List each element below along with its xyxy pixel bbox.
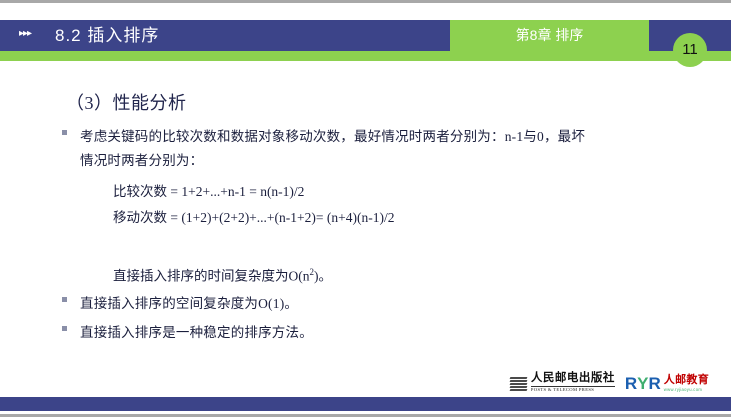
time-complexity-statement: 直接插入排序的时间复杂度为O(n2)。 — [113, 261, 332, 288]
list-item: 直接插入排序是一种稳定的排序方法。 — [62, 321, 722, 345]
monogram-letter-r-right: R — [649, 375, 661, 392]
slide-header: ▸▸▸ 8.2 插入排序 第8章 排序 11 — [0, 20, 731, 61]
presentation-slide: ▸▸▸ 8.2 插入排序 第8章 排序 11 （3）性能分析 考虑关键码的比较次… — [0, 0, 731, 417]
ryjiaoyu-education-logo: R Y R 人邮教育 www.ryjiaoyu.com — [625, 375, 709, 392]
formula-move-count: 移动次数 = (1+2)+(2+2)+...+(n-1+2)= (n+4)(n-… — [113, 207, 394, 229]
page-title: （3）性能分析 — [66, 89, 187, 115]
ryr-monogram-icon: R Y R — [625, 375, 661, 392]
press-logo-text: 人民邮电出版社 POSTS & TELECOM PRESS — [531, 373, 615, 393]
section-title-header: 8.2 插入排序 — [55, 24, 159, 48]
chapter-label: 第8章 排序 — [450, 20, 649, 51]
list-item-label: 直接插入排序是一种稳定的排序方法。 — [80, 321, 722, 345]
list-item: 直接插入排序的空间复杂度为O(1)。 — [62, 292, 722, 316]
square-bullet-icon — [62, 321, 80, 331]
edu-name-cn: 人邮教育 — [664, 375, 709, 386]
list-item-label: 考虑关键码的比较次数和数据对象移动次数，最好情况时两者分别为：n-1与0，最坏 — [80, 125, 722, 149]
list-item-continuation: 情况时两者分别为： — [80, 149, 203, 173]
monogram-letter-y-middle: Y — [637, 375, 648, 392]
square-bullet-icon — [62, 292, 80, 302]
list-item: 考虑关键码的比较次数和数据对象移动次数，最好情况时两者分别为：n-1与0，最坏 — [62, 125, 722, 149]
book-pages-icon — [510, 375, 527, 392]
footer-logos: 人民邮电出版社 POSTS & TELECOM PRESS R Y R 人邮教育… — [510, 373, 709, 393]
slide-footer: 人民邮电出版社 POSTS & TELECOM PRESS R Y R 人邮教育… — [0, 351, 731, 411]
posts-telecom-press-logo: 人民邮电出版社 POSTS & TELECOM PRESS — [510, 373, 615, 393]
time-complexity-prefix: 直接插入排序的时间复杂度为O(n — [113, 269, 310, 284]
square-bullet-icon — [62, 125, 80, 135]
footer-blue-bar — [0, 397, 731, 411]
edu-logo-text: 人邮教育 www.ryjiaoyu.com — [664, 375, 709, 392]
triple-right-arrow-icon: ▸▸▸ — [19, 29, 31, 39]
page-number-badge: 11 — [673, 33, 707, 67]
edu-website-url: www.ryjiaoyu.com — [664, 388, 709, 392]
monogram-letter-r-left: R — [625, 375, 637, 392]
time-complexity-suffix: )。 — [314, 269, 332, 284]
press-name-cn: 人民邮电出版社 — [531, 373, 615, 385]
press-name-en: POSTS & TELECOM PRESS — [531, 386, 615, 393]
formula-comparison-count: 比较次数 = 1+2+...+n-1 = n(n-1)/2 — [113, 181, 304, 203]
header-green-underline — [0, 51, 731, 61]
list-item-label: 直接插入排序的空间复杂度为O(1)。 — [80, 292, 722, 316]
